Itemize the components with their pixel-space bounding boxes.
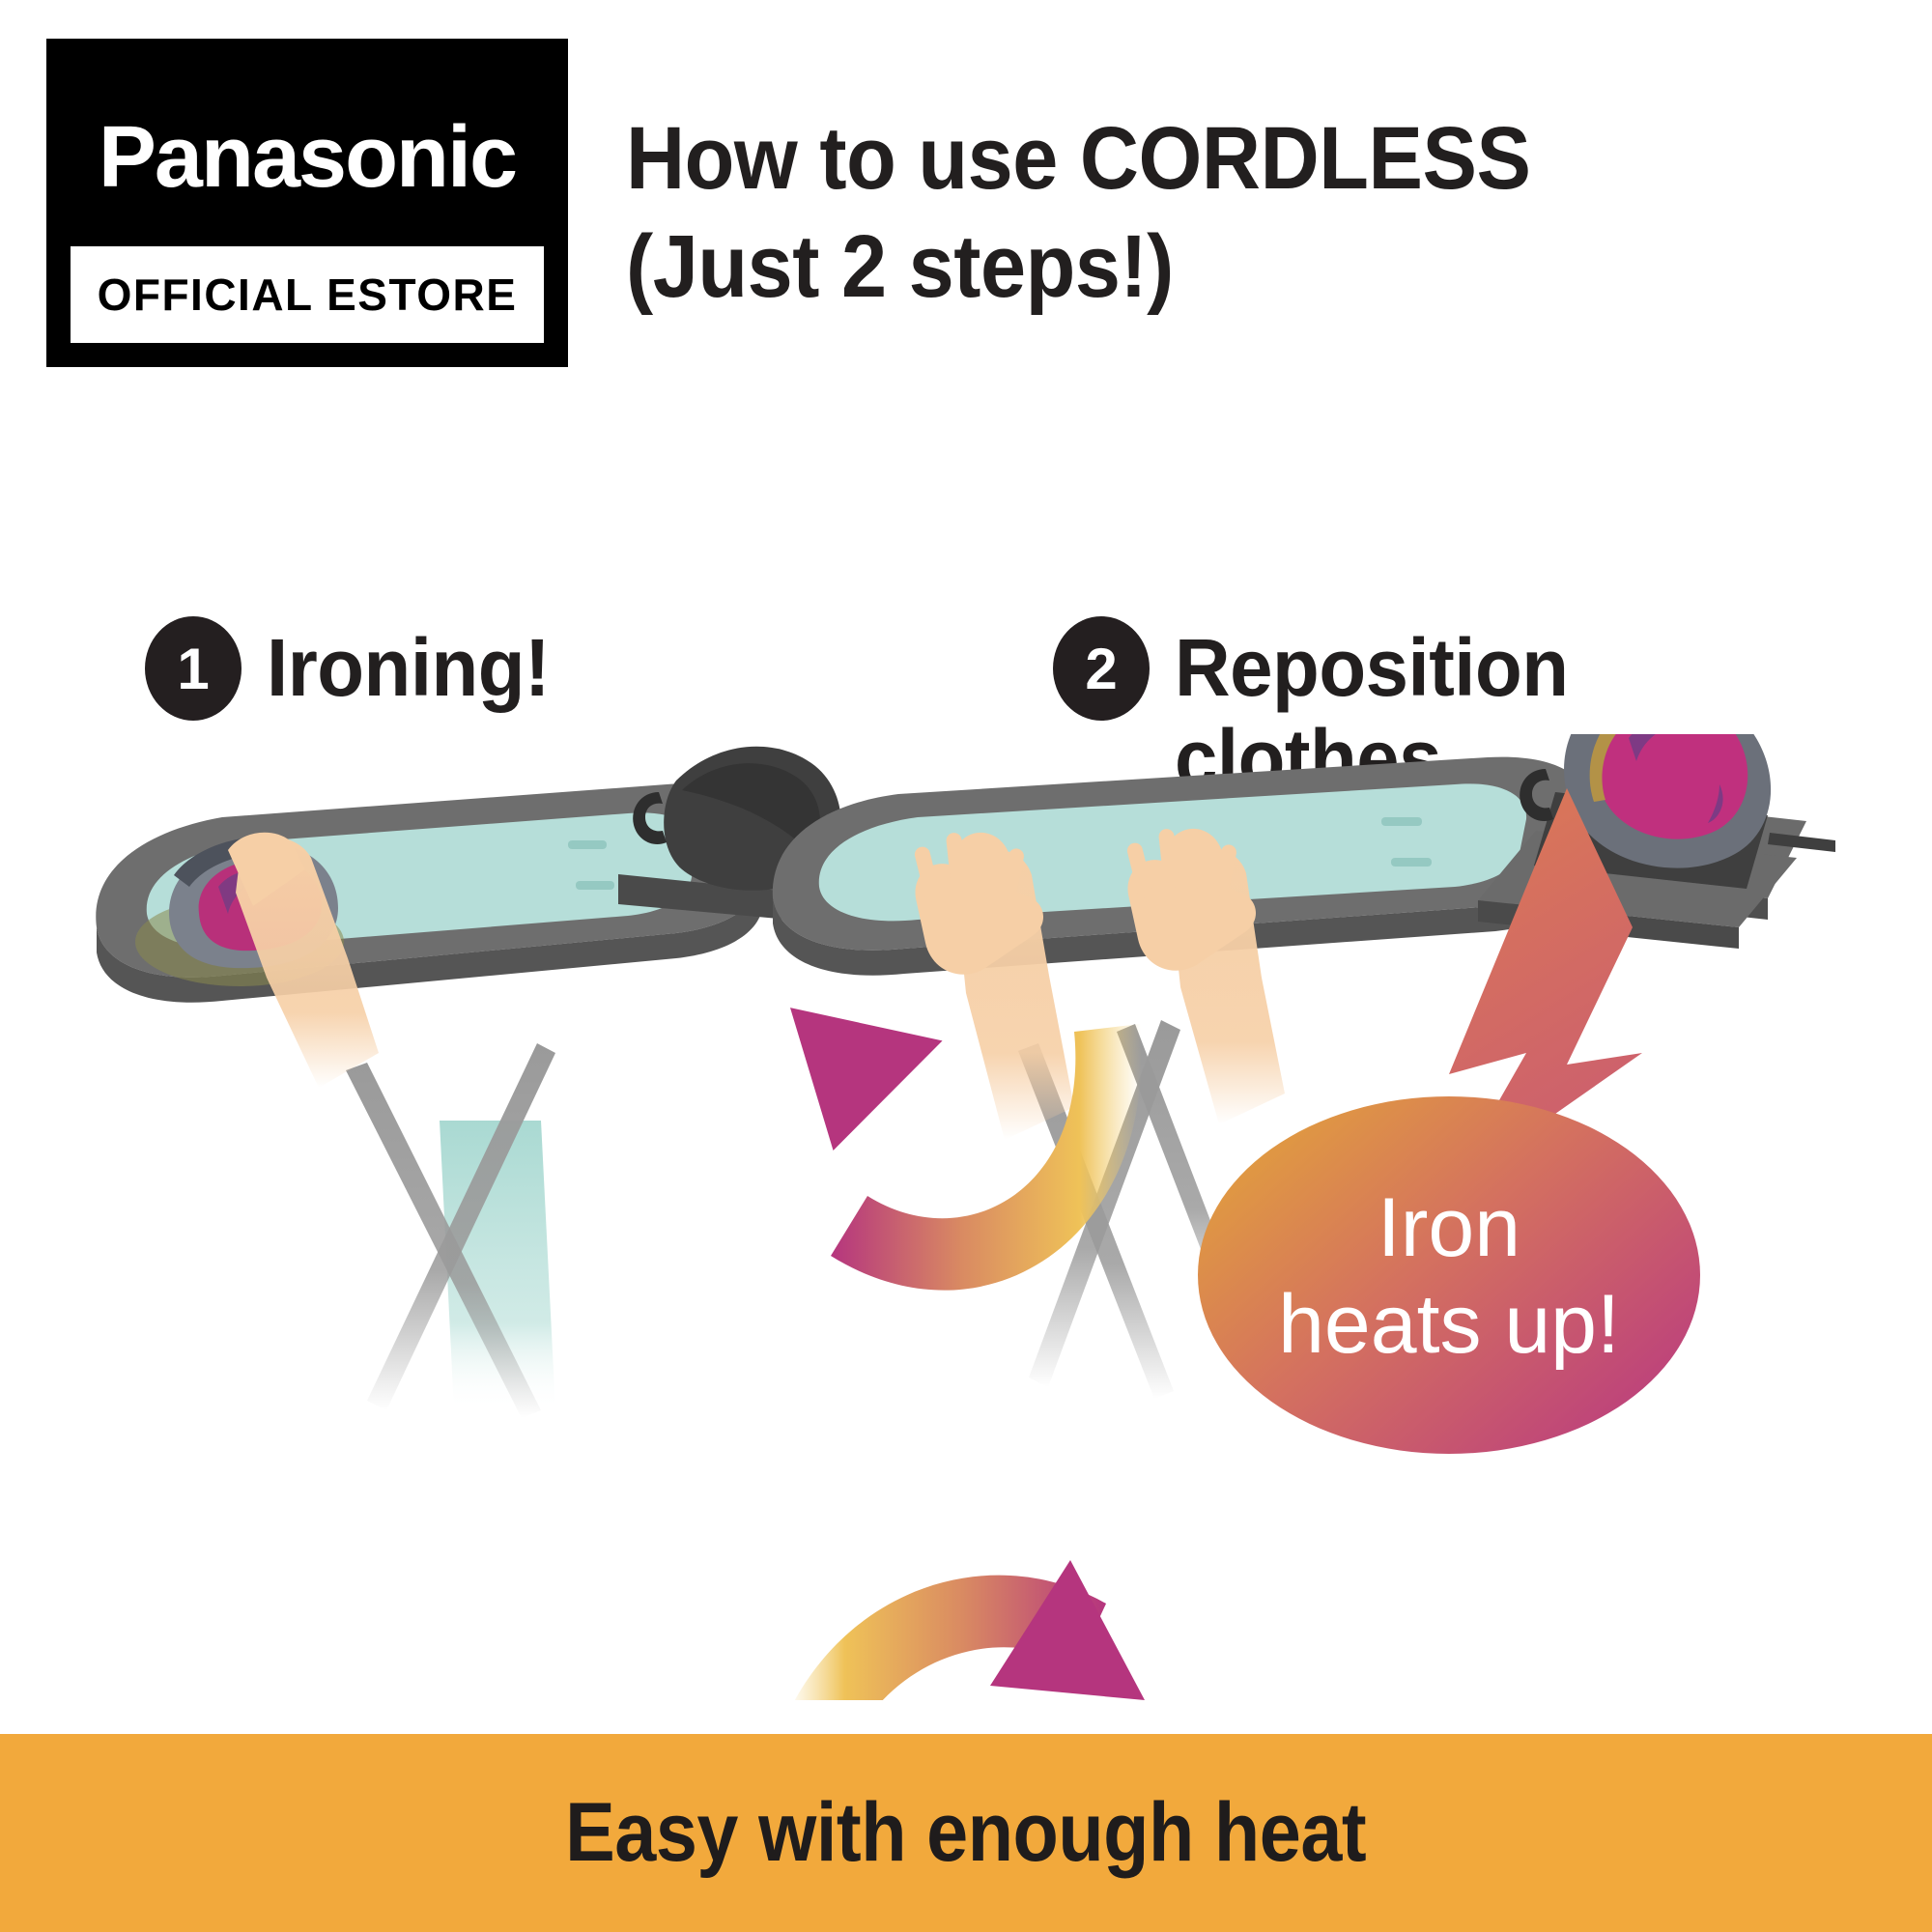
infographic-page: Panasonic OFFICIAL ESTORE How to use COR…: [0, 0, 1932, 1932]
panasonic-logo: Panasonic OFFICIAL ESTORE: [46, 39, 568, 367]
callout-line-2: heats up!: [1278, 1278, 1620, 1371]
footer-text: Easy with enough heat: [565, 1785, 1366, 1881]
footer-banner: Easy with enough heat: [0, 1734, 1932, 1932]
step-1-label: Ironing!: [267, 616, 550, 713]
callout-line-1: Iron: [1378, 1181, 1520, 1274]
page-title: How to use CORDLESS (Just 2 steps!): [626, 104, 1781, 321]
title-line-1: How to use CORDLESS: [626, 104, 1781, 213]
step-2-badge: 2: [1053, 616, 1150, 721]
step-1-header: 1 Ironing!: [145, 616, 565, 721]
logo-subtitle-badge: OFFICIAL ESTORE: [71, 246, 544, 343]
step-1-badge: 1: [145, 616, 241, 721]
iron-heats-up-callout: Iron heats up!: [1198, 1096, 1700, 1454]
logo-wordmark: Panasonic: [46, 114, 568, 201]
arrow-to-step-2: [787, 1560, 1145, 1700]
title-line-2: (Just 2 steps!): [626, 213, 1781, 321]
illustration-scene: Iron heats up!: [0, 734, 1932, 1700]
